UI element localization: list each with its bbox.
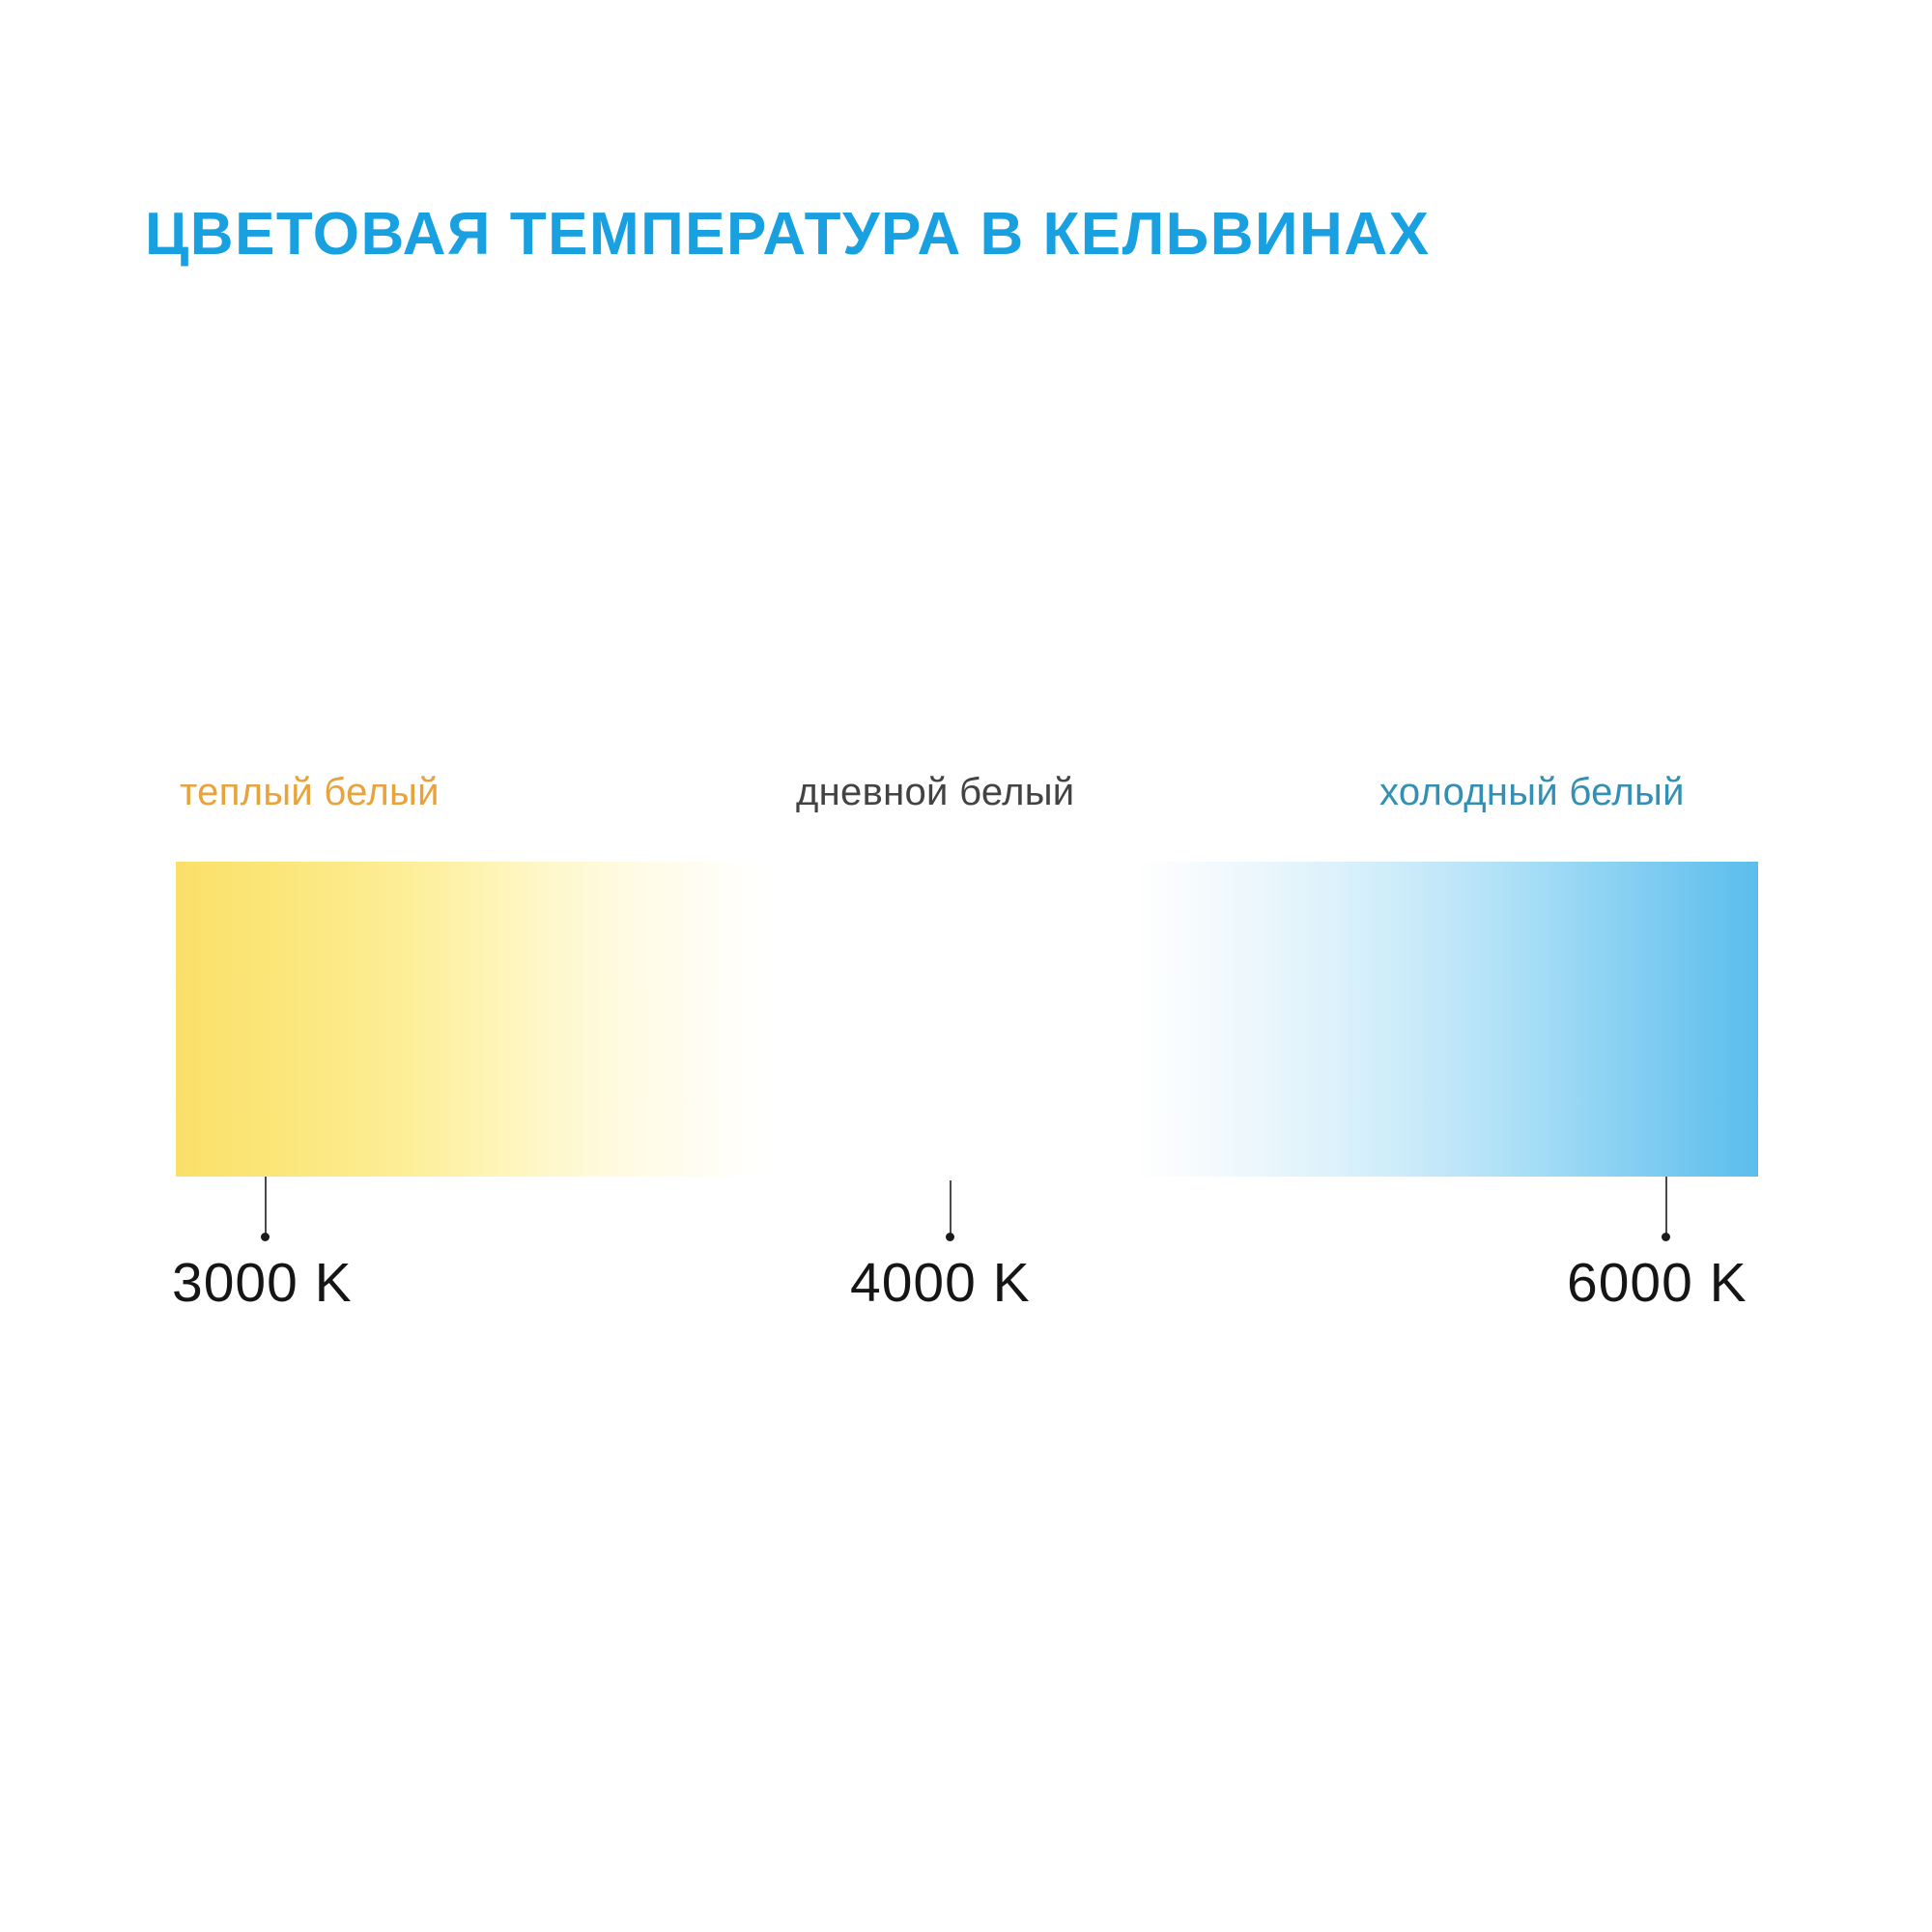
leader-line-daylight-white (950, 1180, 952, 1236)
tick-label-4000k: 4000 K (850, 1256, 1031, 1311)
leader-dot-warm-white (261, 1233, 270, 1241)
leader-dot-daylight-white (946, 1233, 954, 1241)
tick-label-6000k: 6000 K (1567, 1256, 1747, 1311)
gradient-bar-warm-white (176, 862, 775, 1177)
page-title: ЦВЕТОВАЯ ТЕМПЕРАТУРА В КЕЛЬВИНАХ (145, 205, 1430, 265)
category-label-cool-white: холодный белый (1379, 773, 1685, 811)
category-label-warm-white: теплый белый (180, 773, 440, 811)
category-label-daylight-white: дневной белый (796, 773, 1074, 811)
tick-label-3000k: 3000 K (172, 1256, 353, 1311)
leader-dot-cool-white (1662, 1233, 1670, 1241)
gradient-bar-cool-white (1135, 862, 1758, 1177)
leader-line-warm-white (265, 1177, 267, 1236)
leader-line-cool-white (1665, 1177, 1667, 1236)
infographic-canvas: ЦВЕТОВАЯ ТЕМПЕРАТУРА В КЕЛЬВИНАХ теплый … (0, 0, 1932, 1932)
